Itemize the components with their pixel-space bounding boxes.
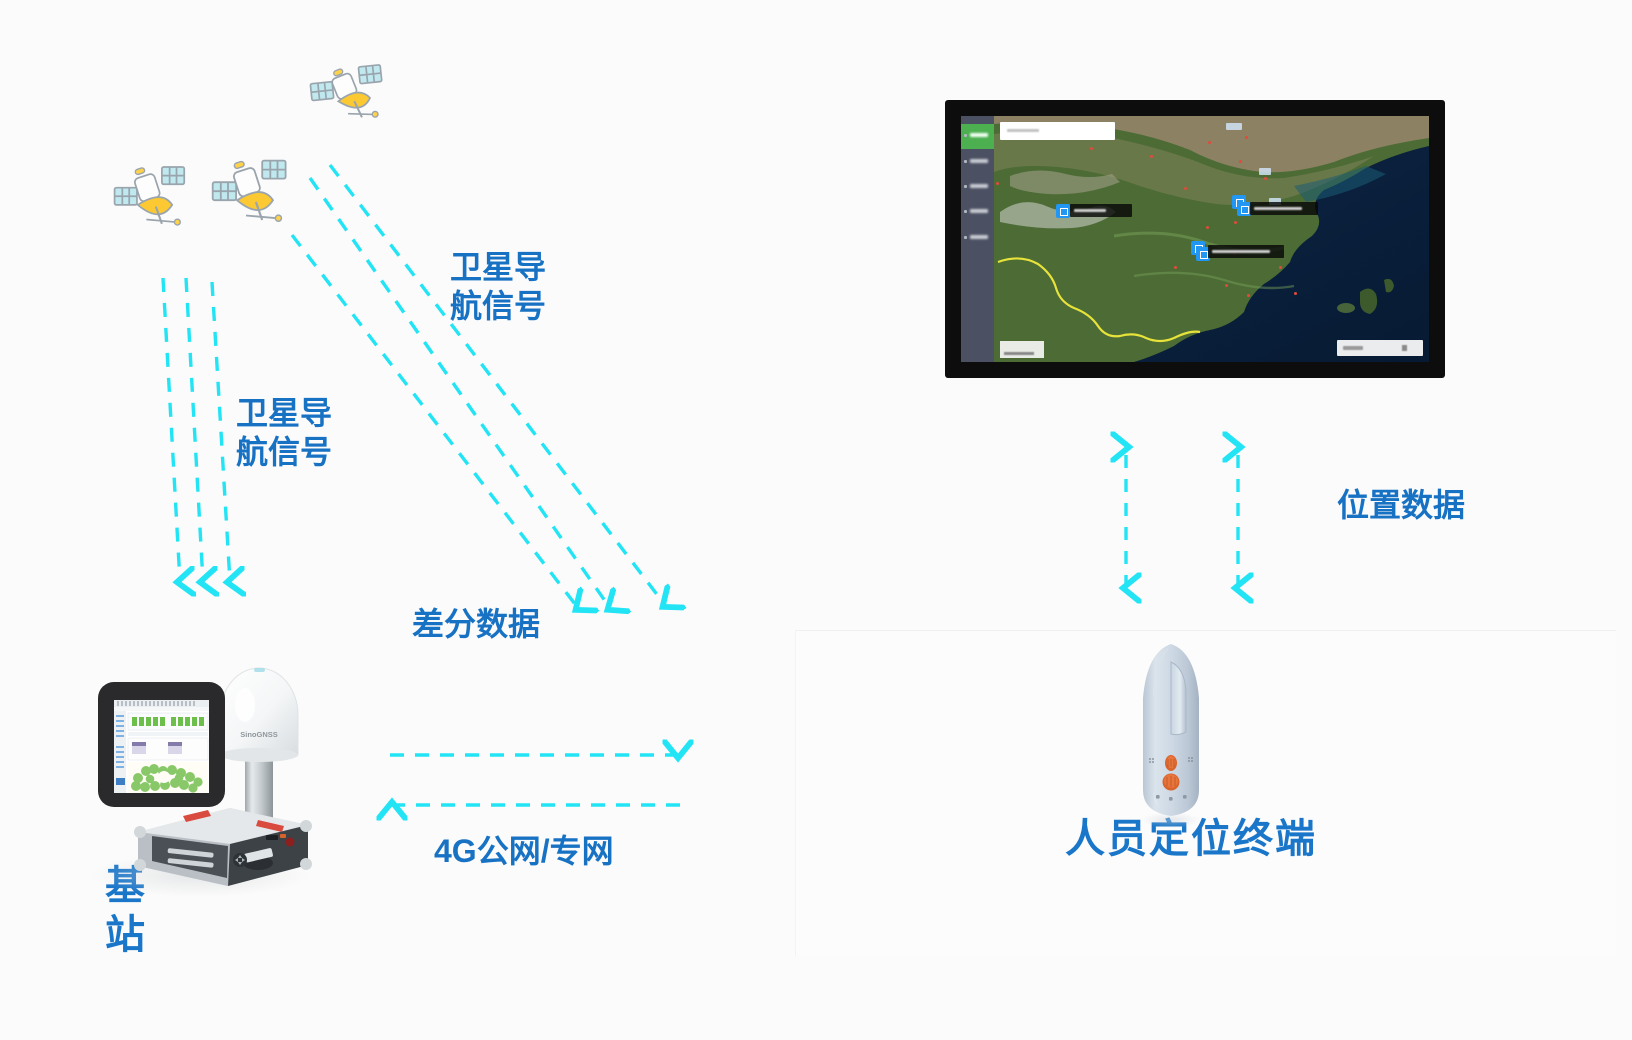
diagram-canvas: 卫星导 航信号 卫星导 航信号 差分数据 4G公网/专网 基 站 位置数据 人员…	[0, 0, 1632, 1040]
sat-to-base-line-3	[212, 282, 230, 582]
map-scale-bar	[1000, 341, 1044, 358]
personnel-terminal-device	[1128, 640, 1208, 820]
map-city-dot	[1208, 141, 1211, 144]
map-city-dot	[1206, 226, 1209, 229]
map-tooltip-text	[1254, 207, 1302, 210]
map-city-dot	[1294, 292, 1297, 295]
svg-text:SinoGNSS: SinoGNSS	[240, 730, 278, 739]
label-network: 4G公网/专网	[434, 832, 614, 871]
sat-to-term-line-2	[310, 178, 610, 608]
label-satellite-signal-top: 卫星导 航信号	[450, 248, 546, 326]
map-tooltip-inland	[1070, 204, 1132, 217]
sidebar-item-1[interactable]	[961, 124, 994, 149]
map-tooltip-text	[1212, 250, 1270, 253]
map-tooltip-text	[1074, 209, 1106, 212]
sidebar-icon-4	[964, 210, 967, 213]
map-area-tag	[1226, 123, 1242, 130]
monitor-reflection	[945, 378, 1445, 456]
satellite-1-icon	[308, 58, 392, 147]
map-pin-shanghai-2[interactable]	[1237, 202, 1251, 216]
label-satellite-signal-left: 卫星导 航信号	[236, 394, 332, 472]
dome-antenna: SinoGNSS	[220, 668, 298, 762]
map-city-dot	[1174, 266, 1177, 269]
sidebar-icon-1	[964, 134, 967, 137]
map-city-label: ●	[1096, 128, 1098, 133]
map-scale-line	[1004, 352, 1034, 355]
map-city-dot	[1264, 177, 1267, 180]
sidebar-icon-5	[964, 236, 967, 239]
map-zoom-label	[1343, 346, 1363, 350]
base-station-graphic: SinoGNSS	[80, 620, 360, 900]
map-city-dot	[996, 182, 999, 185]
map-city-dot	[1239, 160, 1242, 163]
map-city-dot	[1184, 187, 1187, 190]
sidebar-item-4[interactable]	[961, 200, 994, 225]
sat-to-base-line-1	[163, 278, 180, 582]
satellite-2-icon	[112, 155, 198, 246]
sidebar-label-5	[970, 235, 988, 239]
map-city-dot	[1247, 294, 1250, 297]
map-area-tag	[1259, 168, 1271, 175]
sidebar-label-1	[970, 133, 988, 137]
terminal-led-2	[1169, 797, 1173, 801]
map-city-dot	[1234, 221, 1237, 224]
base-station-tablet	[98, 682, 225, 807]
map-tooltip-shanghai	[1250, 202, 1318, 215]
label-position-data: 位置数据	[1337, 486, 1465, 525]
map-city-dot	[1150, 155, 1153, 158]
sidebar-item-2[interactable]	[961, 150, 994, 175]
sidebar-item-5[interactable]	[961, 226, 994, 251]
map-zoom-control[interactable]	[1337, 340, 1423, 356]
sidebar-label-4	[970, 209, 988, 213]
map-zoom-value	[1402, 345, 1407, 351]
control-center-monitor: ●	[945, 100, 1445, 378]
monitor-screen: ●	[961, 116, 1429, 362]
satellite-3-icon	[210, 148, 300, 243]
map-canvas[interactable]: ●	[994, 116, 1429, 362]
label-differential-data: 差分数据	[412, 605, 540, 644]
terminal-led-3	[1183, 795, 1187, 799]
sat-to-term-line-3	[330, 165, 665, 605]
sat-to-base-line-2	[186, 278, 203, 582]
map-tooltip-coastal	[1208, 245, 1284, 258]
map-city-dot	[1245, 136, 1248, 139]
search-placeholder-text	[1007, 129, 1039, 132]
map-city-dot	[1090, 147, 1093, 150]
sidebar-item-3[interactable]	[961, 175, 994, 200]
sidebar-label-2	[970, 159, 988, 163]
app-sidebar	[961, 116, 994, 362]
sidebar-icon-2	[964, 160, 967, 163]
sidebar-icon-3	[964, 185, 967, 188]
map-pin-inland[interactable]	[1056, 204, 1070, 218]
map-city-dot	[1225, 284, 1228, 287]
map-city-dot	[1279, 266, 1282, 269]
sidebar-label-3	[970, 184, 988, 188]
terminal-led-1	[1156, 795, 1160, 799]
